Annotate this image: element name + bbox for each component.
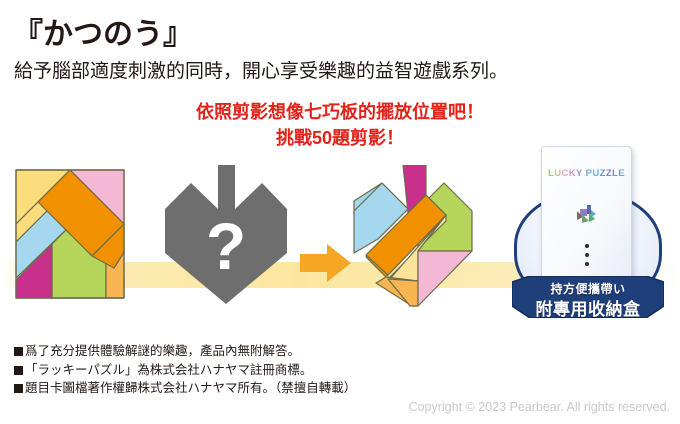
tangram-heart-figure <box>348 165 478 312</box>
footnote-item-3: 題目卡圖檔著作權歸株式会社ハナヤマ所有。（禁擅自轉載） <box>14 379 356 398</box>
tangram-silhouette: ? <box>163 165 289 310</box>
package-box: LUCKY PUZZLE <box>541 146 632 282</box>
promo-page: 『かつのう』 給予腦部適度刺激的同時，開心享受樂趣的益智遊戲系列。 依照剪影想像… <box>0 0 680 424</box>
transform-arrow-icon <box>300 243 352 288</box>
package-logo-text: LUCKY PUZZLE <box>542 168 631 179</box>
product-package: LUCKY PUZZLE 持方便攜帶い 附專用收納盒 <box>500 142 675 320</box>
package-heart-icon <box>573 200 601 233</box>
footnote-item-1: 爲了充分提供體驗解謎的樂趣，產品內無附解答。 <box>14 342 356 361</box>
footnote-text: 題目卡圖檔著作權歸株式会社ハナヤマ所有。（禁擅自轉載） <box>25 381 356 395</box>
page-title: 『かつのう』 <box>13 18 193 52</box>
package-ribbon: 持方便攜帶い 附專用收納盒 <box>512 276 664 318</box>
square-bullet-icon <box>14 384 23 393</box>
footnote-item-2: 「ラッキーパズル」為株式会社ハナヤマ註冊商標。 <box>14 361 356 380</box>
square-bullet-icon <box>14 347 23 356</box>
square-bullet-icon <box>14 366 23 375</box>
tangram-solved-square <box>14 168 126 305</box>
footnote-text: 爲了充分提供體驗解謎的樂趣，產品內無附解答。 <box>25 344 300 358</box>
package-dots <box>585 239 589 271</box>
question-mark-glyph: ? <box>206 209 246 283</box>
footnote-text: 「ラッキーパズル」為株式会社ハナヤマ註冊商標。 <box>25 363 312 377</box>
copyright-notice: Copyright © 2023 Pearbear. All rights re… <box>409 400 670 414</box>
footnote-list: 爲了充分提供體驗解謎的樂趣，產品內無附解答。 「ラッキーパズル」為株式会社ハナヤ… <box>14 342 356 398</box>
page-subtitle: 給予腦部適度刺激的同時，開心享受樂趣的益智遊戲系列。 <box>14 60 508 84</box>
tagline-line-1: 依照剪影想像七巧板的擺放位置吧！ <box>0 101 680 123</box>
ribbon-line-2: 附專用收納盒 <box>512 295 664 320</box>
